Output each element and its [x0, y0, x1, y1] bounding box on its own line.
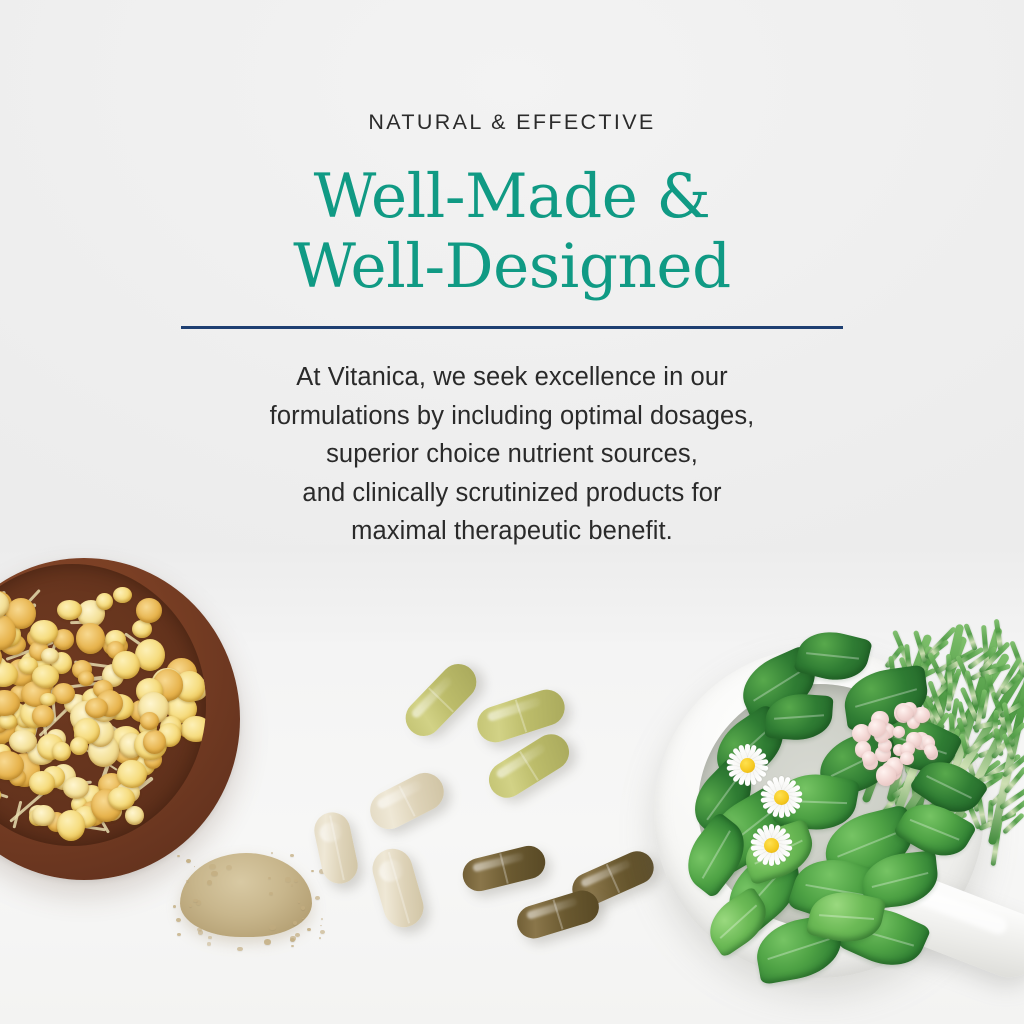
capsule [398, 657, 484, 744]
capsule [513, 886, 603, 942]
daisy-flower [758, 774, 804, 820]
body-line-3: superior choice nutrient sources, [0, 435, 1024, 474]
body-line-1: At Vitanica, we seek excellence in our [0, 358, 1024, 397]
daisy-flower [748, 822, 794, 868]
product-photo [0, 540, 1024, 1024]
mortar-and-pestle [648, 624, 1012, 1024]
body-line-4: and clinically scrutinized products for [0, 474, 1024, 513]
bowl-interior [0, 564, 206, 846]
headline-line-2: Well-Designed [0, 232, 1024, 302]
headline-line-1: Well-Made & [314, 161, 711, 232]
divider [181, 326, 843, 329]
herbal-powder-pile [172, 843, 324, 943]
promo-banner: NATURAL & EFFECTIVE Well-Made & Well-Des… [0, 0, 1024, 1024]
capsule [364, 766, 451, 835]
page-title: Well-Made & Well-Designed [0, 162, 1024, 302]
body-paragraph: At Vitanica, we seek excellence in our f… [0, 358, 1024, 551]
capsule [459, 842, 548, 894]
powder-core [180, 853, 312, 937]
chamomile-flowers [0, 564, 206, 846]
eyebrow-text: NATURAL & EFFECTIVE [0, 109, 1024, 135]
capsule [368, 844, 429, 932]
body-line-2: formulations by including optimal dosage… [0, 397, 1024, 436]
chamomile-bowl [0, 558, 240, 880]
